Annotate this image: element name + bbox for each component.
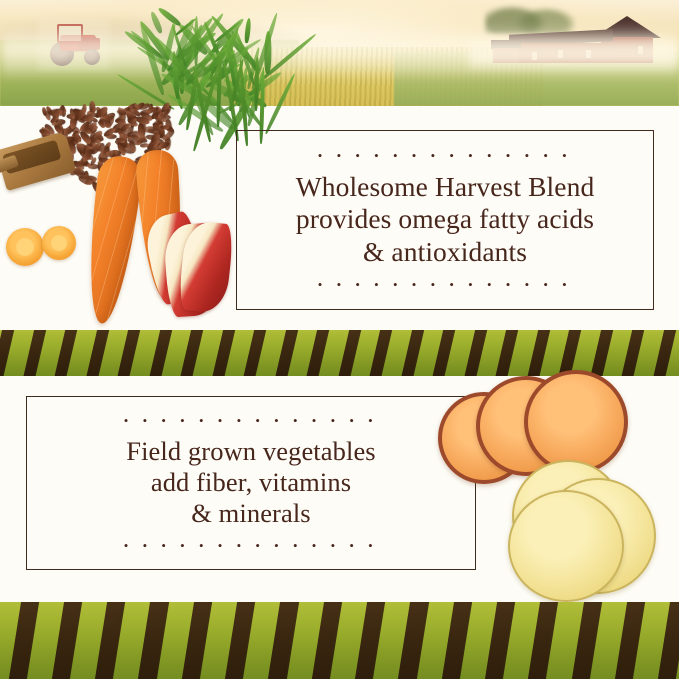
flaxseed-carrot-apple-cluster (0, 96, 250, 320)
potato-slice (508, 490, 624, 602)
panel-omega-antioxidants: • • • • • • • • • • • • • • Wholesome Ha… (236, 130, 654, 310)
carrot-slice (6, 228, 44, 266)
panel-fiber-vitamins-minerals: • • • • • • • • • • • • • • Field grown … (26, 396, 476, 570)
sweet-potato-slice (524, 370, 628, 474)
dot-divider-bottom: • • • • • • • • • • • • • • (124, 539, 378, 552)
sweet-potato-potato-slices (432, 368, 679, 598)
dot-divider-top: • • • • • • • • • • • • • • (124, 414, 378, 427)
morning-mist (0, 24, 679, 76)
farm-landscape-banner (0, 0, 679, 106)
panel-headline: Field grown vegetables add fiber, vitami… (126, 436, 375, 529)
panel-headline: Wholesome Harvest Blend provides omega f… (296, 171, 595, 268)
dot-divider-top: • • • • • • • • • • • • • • (318, 149, 572, 162)
product-feature-graphic: • • • • • • • • • • • • • • Wholesome Ha… (0, 0, 679, 679)
carrot-slice (42, 226, 76, 260)
crop-row-band-bottom (0, 602, 679, 679)
dot-divider-bottom: • • • • • • • • • • • • • • (318, 278, 572, 291)
